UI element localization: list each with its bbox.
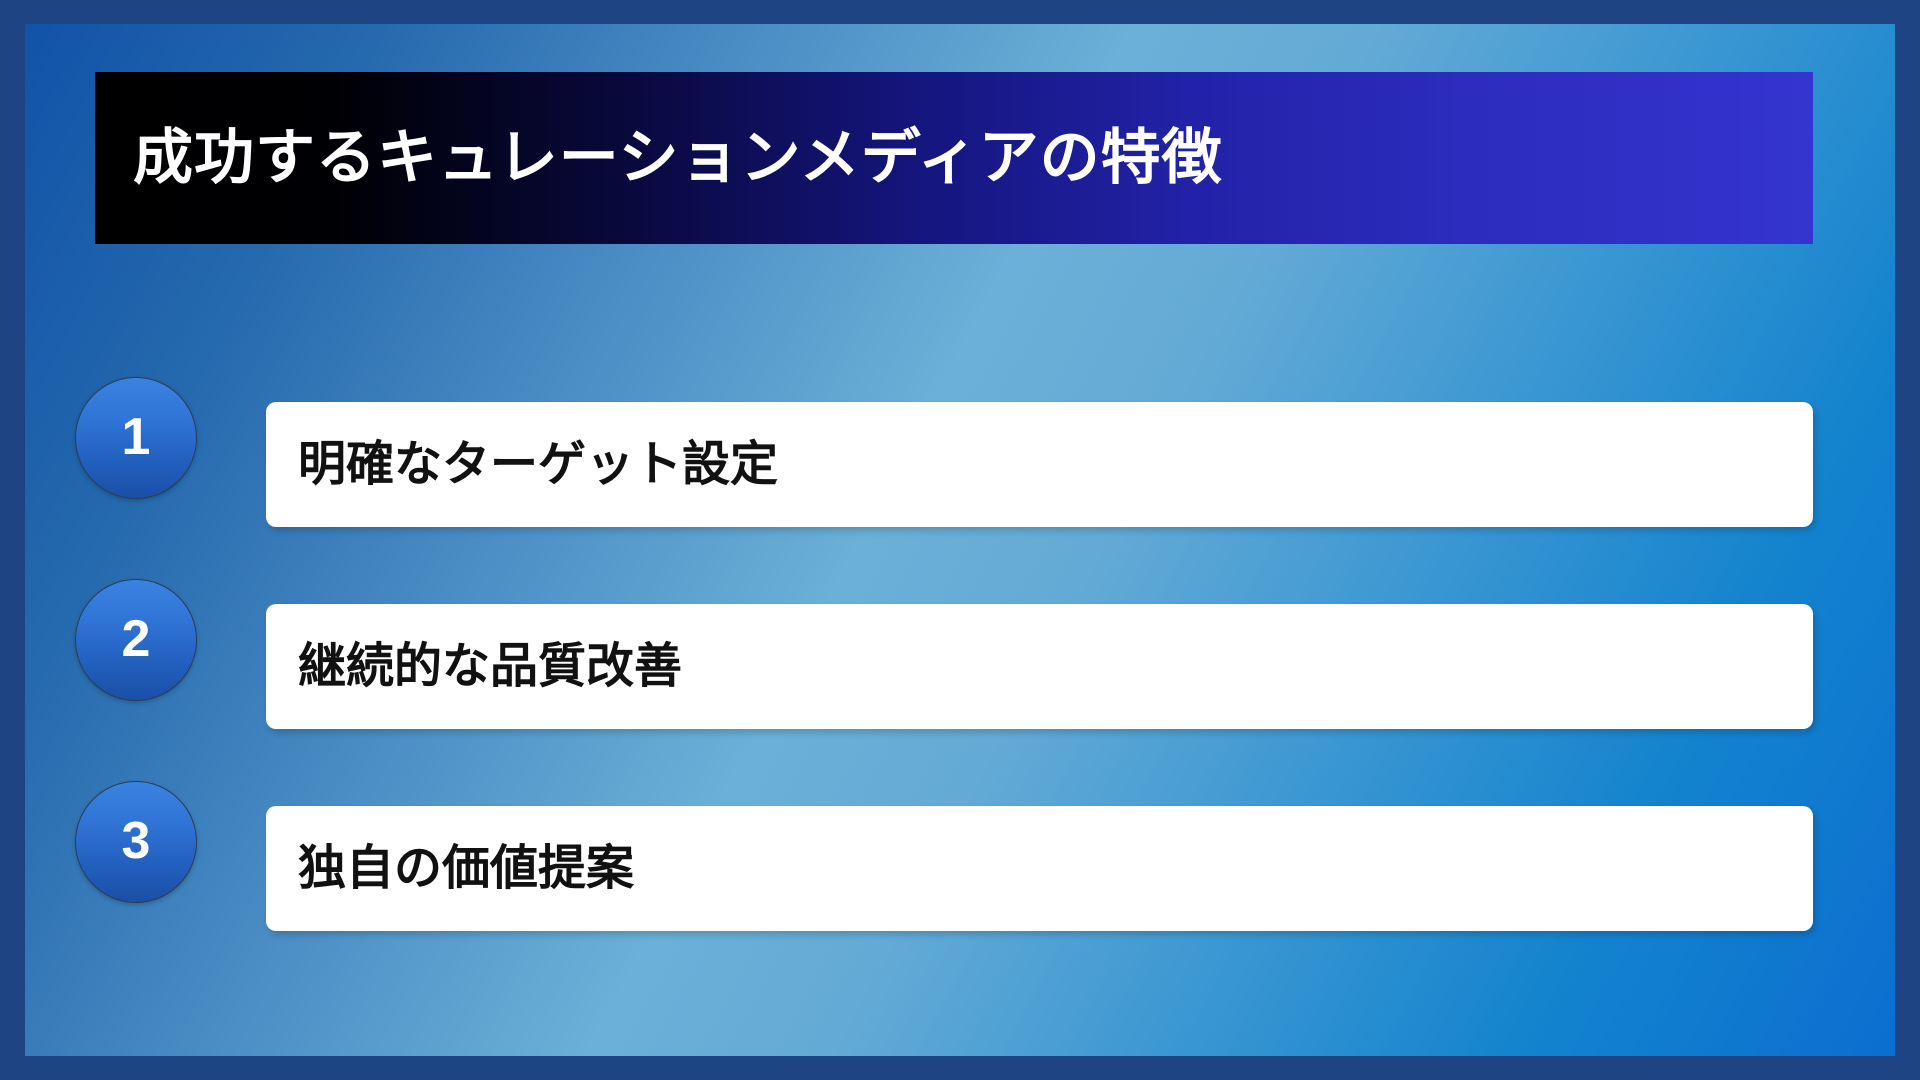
list-item-card: 独自の価値提案 bbox=[266, 806, 1813, 931]
list-item-number: 3 bbox=[122, 815, 151, 867]
list-item-label: 明確なターゲット設定 bbox=[266, 437, 778, 492]
list-item-number-badge: 3 bbox=[75, 781, 197, 903]
list-item: 3 独自の価値提案 bbox=[25, 781, 1895, 931]
page-title: 成功するキュレーションメディアの特徴 bbox=[95, 125, 1223, 191]
list-item-number: 1 bbox=[122, 411, 151, 463]
list-item-card: 明確なターゲット設定 bbox=[266, 402, 1813, 527]
list-item-card: 継続的な品質改善 bbox=[266, 604, 1813, 729]
list-item-number: 2 bbox=[122, 613, 151, 665]
feature-list: 1 明確なターゲット設定 2 継続的な品質改善 3 独自の価 bbox=[25, 377, 1895, 983]
slide-background-panel: 成功するキュレーションメディアの特徴 1 明確なターゲット設定 2 継続的な品質… bbox=[25, 24, 1895, 1056]
slide: 成功するキュレーションメディアの特徴 1 明確なターゲット設定 2 継続的な品質… bbox=[0, 0, 1920, 1080]
list-item-number-badge: 2 bbox=[75, 579, 197, 701]
list-item-label: 独自の価値提案 bbox=[266, 841, 634, 896]
list-item-label: 継続的な品質改善 bbox=[266, 639, 682, 694]
list-item-number-badge: 1 bbox=[75, 377, 197, 499]
slide-title-bar: 成功するキュレーションメディアの特徴 bbox=[95, 72, 1813, 244]
list-item: 1 明確なターゲット設定 bbox=[25, 377, 1895, 527]
list-item: 2 継続的な品質改善 bbox=[25, 579, 1895, 729]
